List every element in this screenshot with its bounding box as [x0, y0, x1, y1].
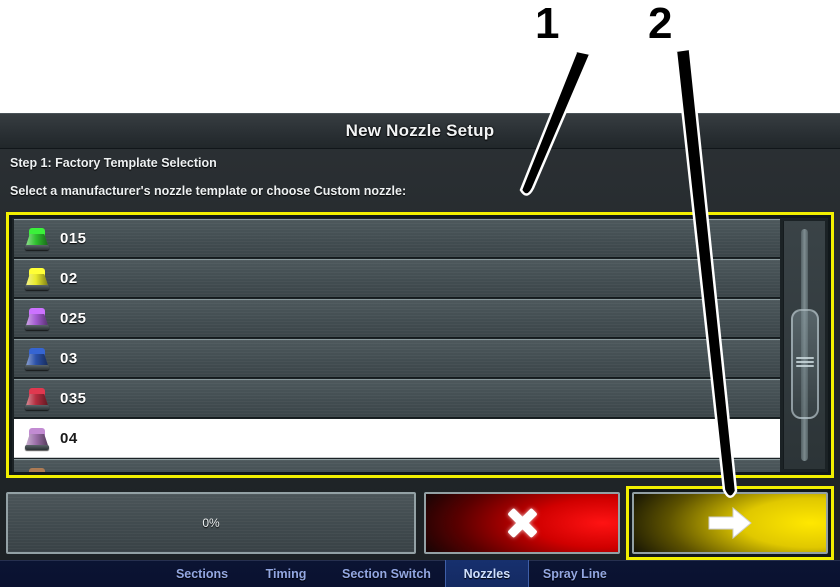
nozzle-template-list[interactable]: 01502025030350405 [12, 218, 828, 472]
nozzle-list-scrollarea[interactable]: 01502025030350405 [12, 218, 792, 472]
nozzle-list-item-label: 02 [60, 270, 78, 287]
tab-spray-line[interactable]: Spray Line [529, 560, 621, 587]
nozzle-icon [24, 466, 50, 473]
new-nozzle-setup-dialog: New Nozzle Setup Step 1: Factory Templat… [0, 113, 840, 560]
nozzle-list-item-label: 04 [60, 430, 78, 447]
nozzle-list-item[interactable]: 035 [14, 379, 780, 418]
nozzle-list-item-label: 015 [60, 230, 87, 247]
nozzle-list-item[interactable]: 02 [14, 259, 780, 298]
next-button[interactable] [632, 492, 828, 554]
nozzle-list-item[interactable]: 025 [14, 299, 780, 338]
nozzle-icon [24, 266, 50, 292]
screen-root: New Nozzle Setup Step 1: Factory Templat… [0, 0, 840, 587]
nozzle-list-item[interactable]: 03 [14, 339, 780, 378]
step-label: Step 1: Factory Template Selection [10, 156, 217, 170]
nozzle-icon [24, 306, 50, 332]
vertical-scrollbar[interactable] [783, 221, 825, 469]
bottom-tab-bar: SectionsTimingSection SwitchNozzlesSpray… [0, 560, 840, 587]
dialog-title: New Nozzle Setup [346, 121, 495, 141]
arrow-right-icon [707, 506, 753, 540]
nozzle-list-item-label: 025 [60, 310, 87, 327]
dialog-titlebar: New Nozzle Setup [0, 114, 840, 149]
progress-button[interactable]: 0% [6, 492, 416, 554]
nozzle-icon [24, 226, 50, 252]
cancel-button[interactable] [424, 492, 620, 554]
nozzle-list-item-label: 03 [60, 350, 78, 367]
tab-sections[interactable]: Sections [160, 560, 244, 587]
nozzle-icon [24, 426, 50, 452]
callout-number-1: 1 [535, 2, 559, 46]
tab-section-switch[interactable]: Section Switch [328, 560, 445, 587]
tab-timing[interactable]: Timing [244, 560, 328, 587]
nozzle-list-item-label: 05 [60, 470, 78, 472]
scrollbar-grip-icon [796, 357, 814, 371]
progress-percent-label: 0% [202, 516, 219, 530]
nozzle-list-item[interactable]: 05 [14, 459, 780, 472]
callout-number-2: 2 [648, 2, 672, 46]
close-x-icon [505, 506, 539, 540]
instruction-text: Select a manufacturer's nozzle template … [10, 184, 406, 198]
nozzle-icon [24, 386, 50, 412]
nozzle-list-item[interactable]: 015 [14, 219, 780, 258]
nozzle-template-list-highlight: 01502025030350405 [6, 212, 834, 478]
tab-list: SectionsTimingSection SwitchNozzlesSpray… [160, 560, 621, 587]
tab-nozzles[interactable]: Nozzles [445, 560, 529, 587]
nozzle-icon [24, 346, 50, 372]
nozzle-list-item[interactable]: 04 [14, 419, 780, 458]
dialog-action-bar: 0% [0, 486, 840, 558]
scrollbar-thumb[interactable] [791, 309, 819, 419]
nozzle-list-item-label: 035 [60, 390, 87, 407]
